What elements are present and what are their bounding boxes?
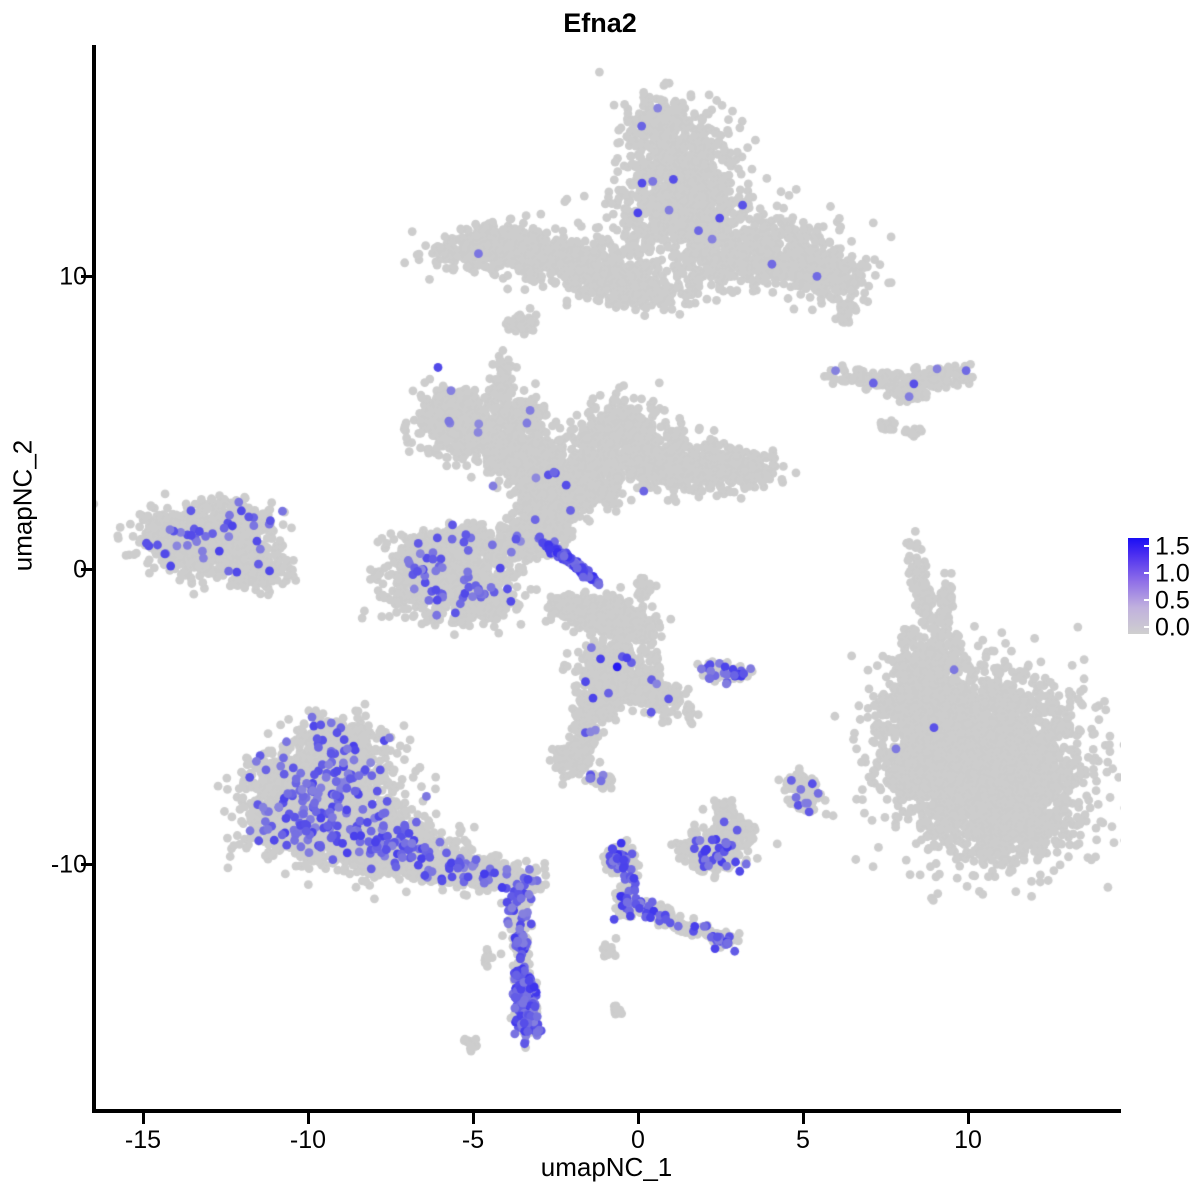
x-tick-label: 10 <box>954 1126 982 1155</box>
y-tick-label: 10 <box>59 263 87 292</box>
x-tick-label: -10 <box>290 1126 326 1155</box>
x-tick-label: 0 <box>631 1126 645 1155</box>
x-tick-mark <box>802 1113 805 1124</box>
x-axis-title: umapNC_1 <box>93 1152 1120 1183</box>
umap-feature-plot: Efna2 umapNC_2 umapNC_1 -15 -10 -5 0 5 1… <box>0 0 1200 1200</box>
legend-tick <box>1144 545 1150 547</box>
x-tick-mark <box>967 1113 970 1124</box>
legend-colorbar <box>1128 538 1149 634</box>
legend-label: 1.0 <box>1155 562 1190 587</box>
page-title: Efna2 <box>0 8 1200 39</box>
scatter-plot-area[interactable] <box>96 45 1121 1109</box>
color-legend: 1.5 1.0 0.5 0.0 <box>1128 538 1198 648</box>
scatter-canvas[interactable] <box>96 45 1121 1109</box>
x-tick-mark <box>472 1113 475 1124</box>
legend-tick <box>1144 626 1150 628</box>
x-tick-label: 5 <box>796 1126 810 1155</box>
x-tick-mark <box>637 1113 640 1124</box>
x-tick-label: -15 <box>125 1126 161 1155</box>
y-tick-label: 0 <box>73 556 87 585</box>
legend-tick <box>1144 599 1150 601</box>
x-tick-label: -5 <box>462 1126 484 1155</box>
legend-label: 0.5 <box>1155 589 1190 614</box>
legend-tick <box>1144 572 1150 574</box>
y-tick-label: -10 <box>51 851 87 880</box>
x-tick-mark <box>142 1113 145 1124</box>
x-tick-mark <box>307 1113 310 1124</box>
legend-label: 0.0 <box>1155 616 1190 641</box>
y-axis-title: umapNC_2 <box>8 371 39 641</box>
legend-label: 1.5 <box>1155 535 1190 560</box>
